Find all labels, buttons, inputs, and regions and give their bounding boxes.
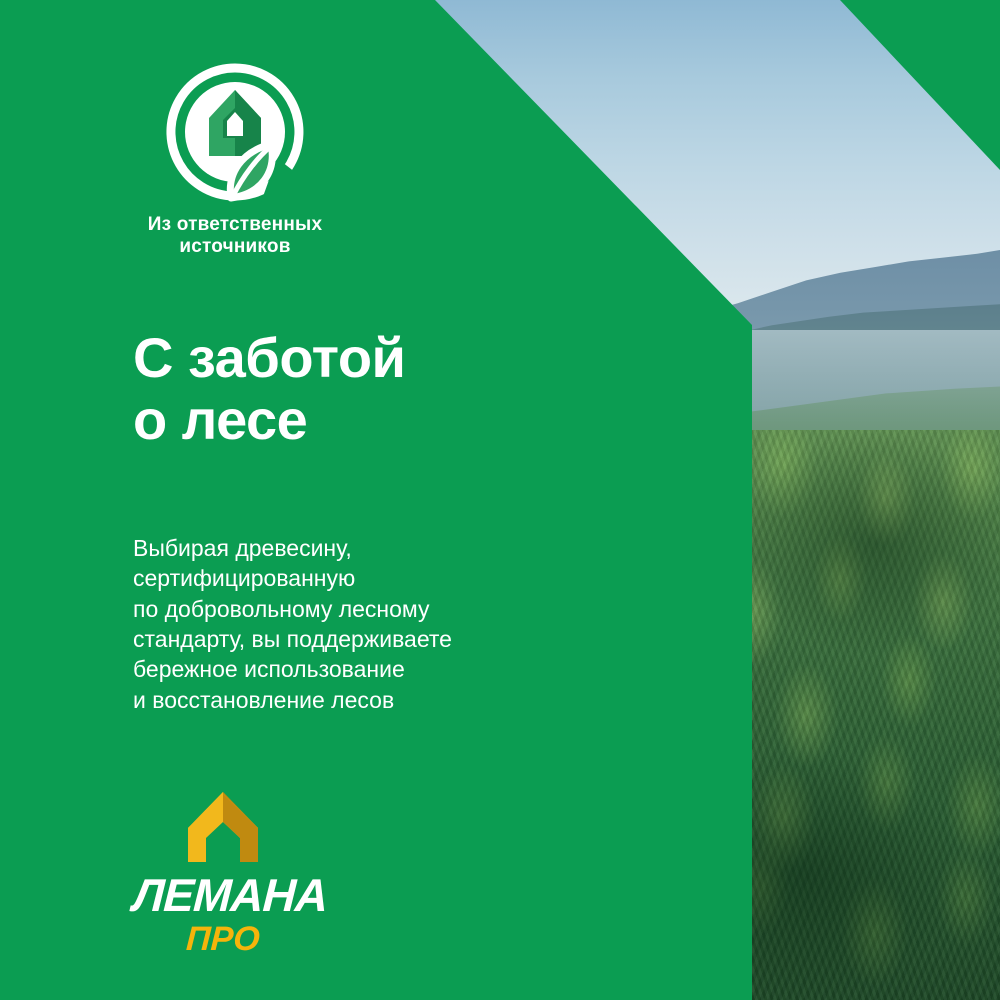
poster-content: Из ответственных источников С заботой о … <box>0 0 1000 1000</box>
certification-badge-caption: Из ответственных источников <box>130 214 340 259</box>
poster-canvas: Из ответственных источников С заботой о … <box>0 0 1000 1000</box>
brand-subtitle: ПРО <box>132 922 314 956</box>
body-paragraph: Выбирая древесину, сертифицированную по … <box>133 533 452 715</box>
house-roof-icon <box>182 790 264 864</box>
brand-lockup: ЛЕМАНА ПРО <box>133 790 313 956</box>
certification-badge: Из ответственных источников <box>130 62 340 259</box>
house-leaf-circle-icon <box>165 62 305 202</box>
brand-name: ЛЕМАНА <box>132 872 314 918</box>
page-title: С заботой о лесе <box>133 327 405 450</box>
